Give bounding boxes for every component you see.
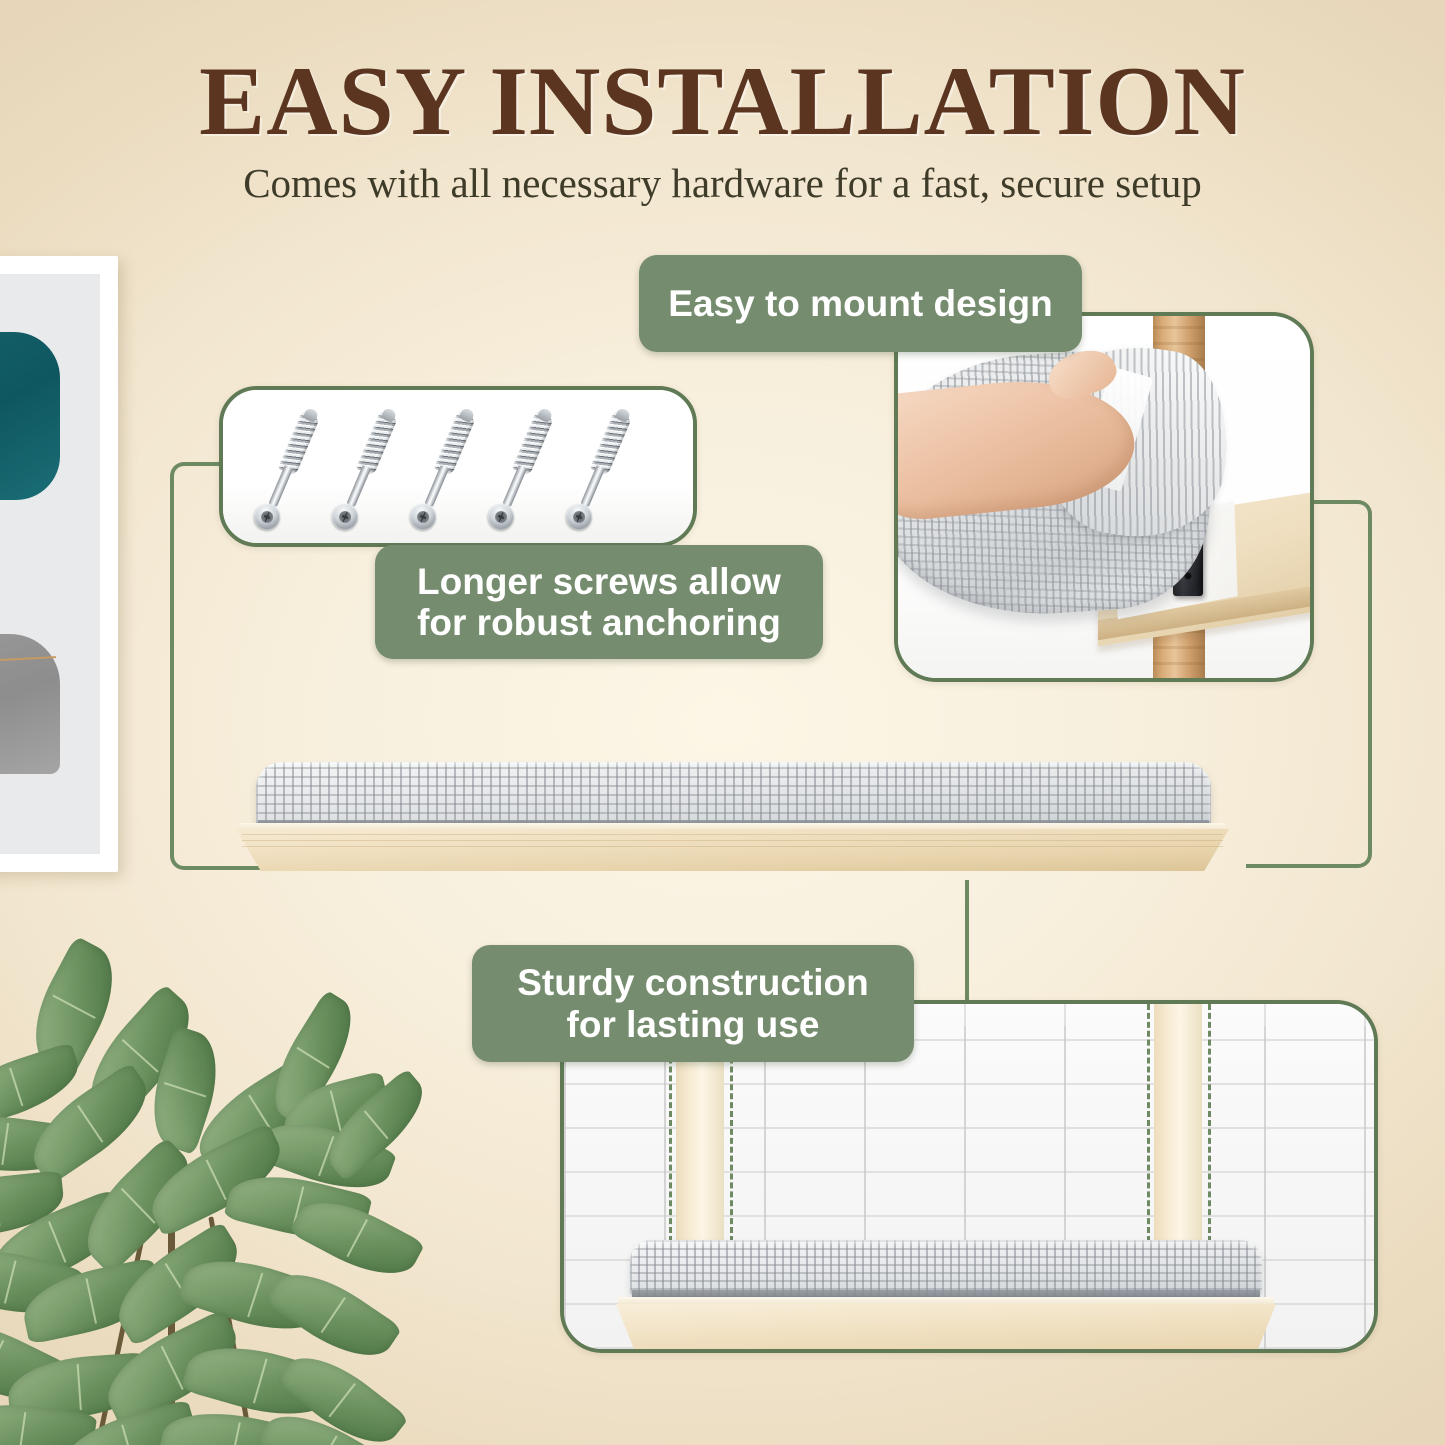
screws-hardware-panel <box>219 386 697 547</box>
callout-label: Sturdy construction for lasting use <box>517 962 869 1045</box>
callout-label-line1: Longer screws allow <box>417 561 781 602</box>
callout-sturdy-construction: Sturdy construction for lasting use <box>472 945 914 1062</box>
infographic-canvas: EASY INSTALLATION Comes with all necessa… <box>0 0 1445 1445</box>
art-teal-shape <box>0 332 60 500</box>
main-product-shelf <box>236 744 1229 889</box>
callout-label: Easy to mount design <box>668 283 1052 324</box>
wall-art-frame <box>0 256 118 872</box>
art-gray-shape <box>0 634 60 774</box>
page-title: EASY INSTALLATION <box>0 52 1445 151</box>
callout-longer-screws: Longer screws allow for robust anchoring <box>375 545 823 659</box>
callout-easy-mount: Easy to mount design <box>639 255 1082 352</box>
connector-shelf-to-brick <box>965 880 969 1002</box>
plywood-layer-lines <box>242 834 1223 850</box>
shelf-board <box>616 1304 1276 1353</box>
hand-mount-panel <box>894 312 1314 682</box>
page-subtitle: Comes with all necessary hardware for a … <box>0 160 1445 207</box>
rubber-plant <box>0 965 450 1445</box>
callout-label-line1: Sturdy construction <box>517 962 869 1003</box>
callout-label-line2: for robust anchoring <box>417 602 781 643</box>
callout-label: Longer screws allow for robust anchoring <box>417 561 781 644</box>
callout-label-line2: for lasting use <box>567 1004 820 1045</box>
art-mat <box>0 274 100 854</box>
